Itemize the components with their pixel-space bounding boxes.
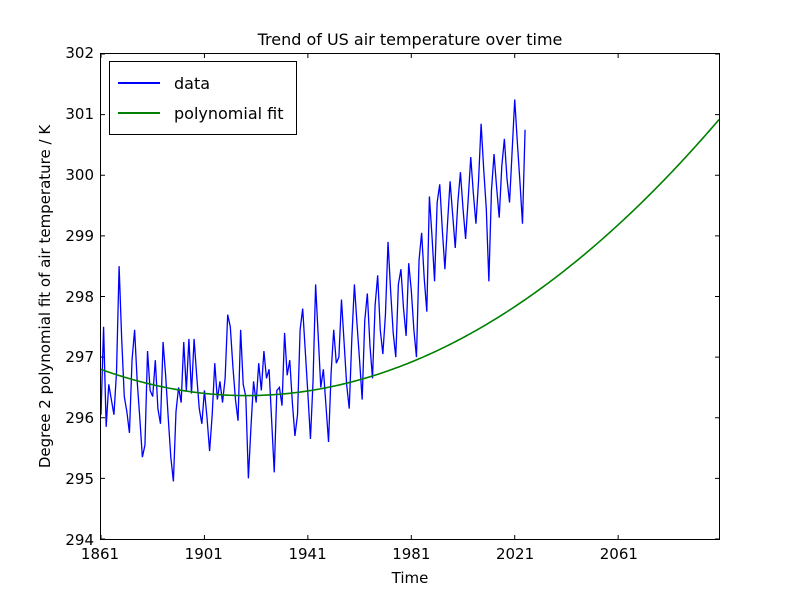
x-axis-tick-labels: 186119011941198120212061 (100, 545, 720, 567)
data-series-line (101, 99, 525, 481)
legend-swatch-data (118, 82, 160, 84)
x-tick-label: 1981 (392, 545, 430, 563)
legend-label-polynomial-fit: polynomial fit (174, 104, 284, 123)
y-tick-label: 296 (56, 409, 94, 427)
y-tick-label: 299 (56, 227, 94, 245)
y-tick-label: 295 (56, 470, 94, 488)
legend-item-data: data (118, 68, 284, 98)
x-tick-label: 1941 (288, 545, 326, 563)
chart-title: Trend of US air temperature over time (100, 30, 720, 49)
legend-item-polynomial-fit: polynomial fit (118, 98, 284, 128)
y-tick-label: 300 (56, 166, 94, 184)
y-axis-label: Degree 2 polynomial fit of air temperatu… (30, 53, 60, 540)
y-tick-label: 297 (56, 348, 94, 366)
legend-label-data: data (174, 74, 210, 93)
x-tick-label: 2061 (600, 545, 638, 563)
x-tick-label: 1861 (81, 545, 119, 563)
chart-legend: data polynomial fit (109, 61, 297, 135)
y-tick-label: 301 (56, 105, 94, 123)
x-axis-label: Time (100, 569, 720, 587)
legend-swatch-polynomial-fit (118, 112, 160, 114)
x-tick-label: 2021 (496, 545, 534, 563)
x-tick-label: 1901 (185, 545, 223, 563)
y-tick-label: 298 (56, 288, 94, 306)
matplotlib-figure: Trend of US air temperature over time da… (0, 0, 800, 600)
y-tick-label: 302 (56, 44, 94, 62)
plot-area: data polynomial fit (100, 53, 720, 540)
